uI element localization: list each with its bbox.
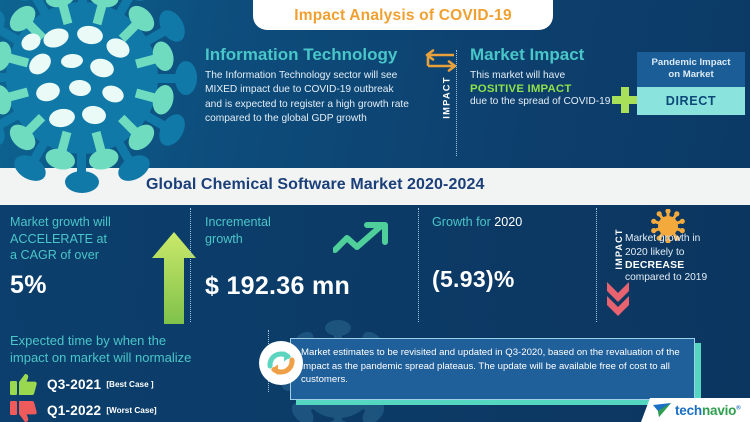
logo-text-part1: tech [675, 403, 702, 418]
notice-box: Market estimates to be revisited and upd… [290, 338, 695, 400]
plus-icon [612, 87, 638, 113]
growth-2020-label: Growth for 2020 [432, 214, 597, 231]
refresh-icon [258, 340, 304, 386]
growth-2020-label-year: 2020 [494, 215, 522, 229]
normalize-row-worst-case: Q1-2022 [Worst Case] [10, 400, 260, 422]
market-impact-line1: This market will have [470, 69, 635, 83]
impact-divider-top: IMPACT [424, 48, 458, 158]
incremental-value: $ 192.36 mn [205, 272, 395, 301]
dotted-divider-3 [596, 208, 597, 322]
growth-2020-label-text: Growth for [432, 215, 494, 229]
information-technology-section: Information Technology The Information T… [205, 45, 410, 126]
dotted-divider-1 [190, 208, 191, 322]
it-heading: Information Technology [205, 45, 410, 65]
best-case-period: Q3-2021 [47, 377, 101, 392]
thumbs-down-icon [10, 400, 37, 422]
normalize-row-best-case: Q3-2021 [Best Case ] [10, 374, 260, 396]
pandemic-impact-header: Pandemic Impact on Market [637, 52, 745, 87]
dotted-divider [456, 50, 457, 156]
market-impact-line2: due to the spread of COVID-19 [470, 95, 635, 109]
market-impact-section: Market Impact This market will have POSI… [470, 45, 635, 110]
best-case-label: [Best Case ] [106, 380, 153, 389]
logo-registered-mark: ® [736, 405, 740, 411]
pandemic-impact-card: Pandemic Impact on Market DIRECT [637, 52, 745, 115]
impact-divider-bottom-label: IMPACT [614, 220, 624, 278]
logo-text: technavio® [675, 403, 740, 418]
worst-case-label: [Worst Case] [106, 406, 156, 415]
cagr-label-line2: ACCELERATE at [10, 231, 170, 248]
impact-divider-label: IMPACT [441, 70, 452, 126]
thumbs-up-icon [10, 374, 37, 396]
normalize-heading: Expected time by when the impact on mark… [10, 333, 260, 367]
cagr-label-line1: Market growth will [10, 214, 170, 231]
metric-cagr: Market growth will ACCELERATE at a CAGR … [10, 214, 170, 300]
pandemic-impact-header-line1: Pandemic Impact [640, 57, 742, 69]
trending-up-icon [333, 222, 395, 258]
normalize-section: Expected time by when the impact on mark… [10, 333, 260, 422]
cagr-value: 5% [10, 271, 170, 300]
normalize-heading-line2: impact on market will normalize [10, 350, 260, 367]
market-title: Global Chemical Software Market 2020-202… [146, 176, 484, 194]
technavio-dart-icon [652, 402, 672, 418]
it-body: The Information Technology sector will s… [205, 69, 410, 127]
metric-growth-2020: Growth for 2020 (5.93)% [432, 214, 597, 293]
market-impact-highlight: POSITIVE IMPACT [470, 83, 635, 95]
growth-2020-value: (5.93)% [432, 266, 597, 293]
technavio-logo[interactable]: technavio® [652, 402, 740, 418]
pandemic-impact-header-line2: on Market [640, 69, 742, 81]
impact-2020-line2: 2020 likely to [625, 246, 747, 260]
worst-case-period: Q1-2022 [47, 403, 101, 418]
dotted-divider-2 [418, 208, 419, 322]
pandemic-impact-value: DIRECT [637, 87, 745, 115]
cagr-label-line3: a CAGR of over [10, 247, 170, 264]
impact-2020-highlight: DECREASE [625, 260, 747, 271]
page-title-pill: Impact Analysis of COVID-19 [253, 0, 553, 30]
logo-text-part2: navio [702, 403, 736, 418]
coronavirus-illustration [0, 0, 197, 193]
normalize-heading-line1: Expected time by when the [10, 333, 260, 350]
impact-2020-line3: compared to 2019 [625, 271, 747, 285]
market-impact-heading: Market Impact [470, 45, 635, 65]
impact-2020-line1: Market growth in [625, 232, 747, 246]
metric-impact-2020: Market growth in 2020 likely to DECREASE… [625, 232, 747, 285]
notice-text: Market estimates to be revisited and upd… [301, 346, 684, 387]
infographic-root: Impact Analysis of COVID-19 Information … [0, 0, 750, 422]
page-title: Impact Analysis of COVID-19 [294, 7, 512, 25]
